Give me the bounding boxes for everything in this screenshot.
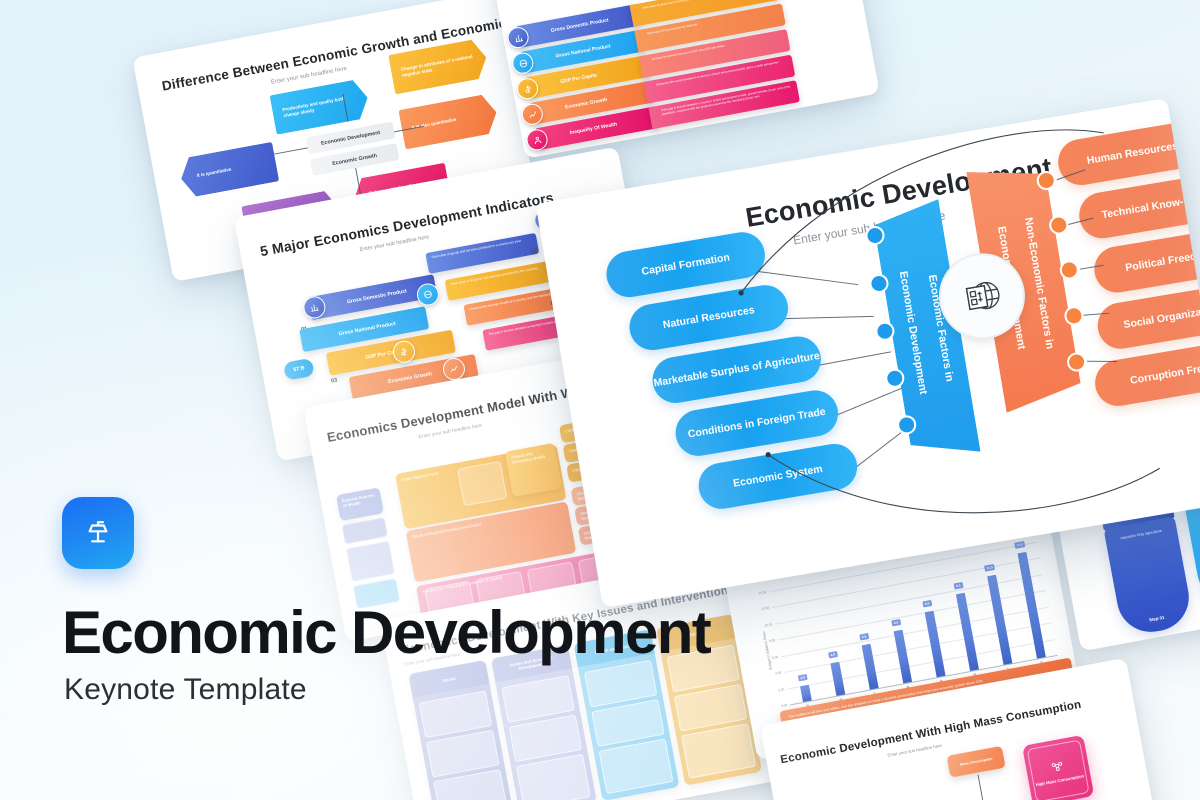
chart-y-tick: 8.00 bbox=[769, 638, 776, 643]
brand-logo-block bbox=[62, 497, 134, 569]
chart-y-tick: 12.00 bbox=[761, 606, 770, 611]
chart-bar-value: 2.0 bbox=[798, 674, 808, 681]
chart-y-axis-label: Budget to Balance Ratio bbox=[762, 631, 773, 670]
non-economic-factor-pill[interactable]: Social Organization bbox=[1094, 282, 1200, 352]
chart-bar: 5.5 bbox=[861, 644, 878, 690]
chart-bar-value: 13.0 bbox=[1014, 541, 1025, 549]
stage-step-label: Step 01 bbox=[1121, 610, 1193, 630]
wealth-left-card bbox=[346, 541, 395, 582]
slide-indicators-puzzle[interactable]: Gross Domestic Product Total value of go… bbox=[480, 0, 880, 159]
chart-bar-value: 11.0 bbox=[984, 564, 995, 572]
chart-bar: 8.0 bbox=[924, 611, 945, 677]
chart-y-tick: 0.00 bbox=[781, 703, 788, 708]
wealth-card bbox=[457, 461, 507, 506]
chart-bar-value: 8.0 bbox=[922, 600, 932, 607]
intervention-card bbox=[681, 723, 756, 779]
chart-y-tick: 2.00 bbox=[778, 687, 785, 692]
wealth-block: Analyze and Developing Wealth bbox=[505, 443, 563, 497]
intervention-card bbox=[516, 754, 591, 800]
wealth-left-card bbox=[341, 517, 388, 545]
mass-card-inner-border bbox=[1027, 740, 1090, 800]
mass-main-card: High Mass Consumption bbox=[1022, 735, 1094, 800]
intervention-card bbox=[599, 738, 674, 794]
chart-bar: 6.5 bbox=[893, 629, 912, 683]
chart-y-tick: 14.00 bbox=[758, 590, 767, 595]
poster-canvas: Difference Between Economic Growth and E… bbox=[0, 0, 1200, 800]
chart-bar: 2.0 bbox=[799, 684, 811, 702]
difference-box: It is also quantitative bbox=[398, 93, 500, 150]
indicator-number: 03 bbox=[331, 378, 338, 385]
difference-box: It is quantitative bbox=[178, 142, 280, 199]
chart-y-tick: 10.00 bbox=[764, 622, 773, 627]
chart-bar-value: 4.0 bbox=[828, 651, 838, 658]
indicator-badge: $7 B bbox=[283, 358, 315, 381]
wealth-left-header: External Sources of Wealth bbox=[336, 487, 384, 521]
stage-body: Industries Only Agriculture Step 01 bbox=[1104, 516, 1195, 637]
mass-card: Mass Consumption bbox=[947, 746, 1006, 778]
chart-y-tick: 6.00 bbox=[772, 655, 779, 660]
chart-y-tick: 4.00 bbox=[775, 671, 782, 676]
page-title: Economic Development bbox=[62, 598, 710, 667]
chart-bar-value: 6.5 bbox=[891, 619, 901, 626]
indicator-number: 02 bbox=[531, 249, 538, 256]
slide-difference-title: Difference Between Economic Growth and E… bbox=[161, 0, 540, 94]
keynote-podium-icon bbox=[62, 497, 134, 569]
page-subtitle: Keynote Template bbox=[64, 673, 307, 707]
difference-box: Productivity and quality both change slo… bbox=[269, 78, 371, 135]
